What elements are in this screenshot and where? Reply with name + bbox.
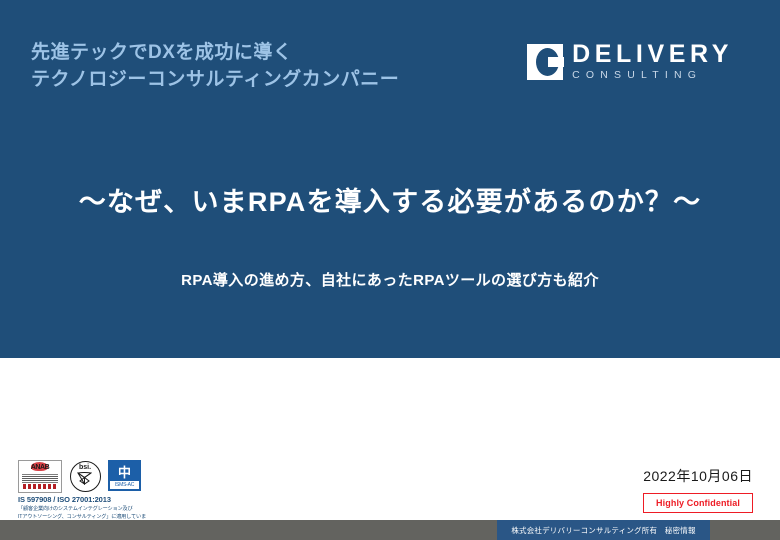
page-title: ～なぜ、いまRPAを導入する必要があるのか？～ — [0, 185, 780, 220]
brand-logo-secondary-text: CONSULTING — [572, 69, 733, 83]
page-subtitle: RPA導入の進め方、自社にあったRPAツールの選び方も紹介 — [0, 269, 780, 290]
brand-logo-primary-text: DELIVERY — [572, 41, 733, 67]
bsi-kitemark-icon: bsi. — [66, 460, 104, 491]
company-tagline: 先進テックでDXを成功に導く テクノロジーコンサルティングカンパニー — [31, 40, 399, 94]
anab-accreditation-icon: ANAB — [18, 460, 62, 493]
certification-marks: ANAB bsi. 中 ISMS-AC — [18, 460, 146, 493]
slide-date: 2022年10月06日 — [643, 466, 753, 486]
footer-bar: 株式会社デリバリーコンサルティング所有 秘密情報 — [0, 520, 780, 540]
bsi-wordmark: bsi. — [66, 464, 104, 471]
anab-rule-bottom — [22, 482, 58, 483]
anab-rule-top — [22, 474, 58, 475]
anab-bars — [23, 484, 57, 489]
brand-logo: DELIVERY CONSULTING — [527, 41, 733, 83]
hero-panel: 先進テックでDXを成功に導く テクノロジーコンサルティングカンパニー DELIV… — [0, 0, 780, 358]
brand-logo-wordmark: DELIVERY CONSULTING — [572, 41, 733, 83]
iso-certificate-number: IS 597908 / ISO 27001:2013 — [18, 495, 146, 504]
delivery-c-mark-icon — [527, 44, 563, 80]
title-block: ～なぜ、いまRPAを導入する必要があるのか？～ — [0, 185, 780, 220]
status-badge: Highly Confidential — [643, 493, 753, 513]
kitemark-shape — [77, 471, 92, 485]
jis-isms-icon: 中 ISMS-AC — [108, 460, 141, 491]
jis-band-label: ISMS-AC — [110, 481, 139, 489]
anab-wordmark: ANAB — [19, 464, 61, 471]
title-slide: 先進テックでDXを成功に導く テクノロジーコンサルティングカンパニー DELIV… — [0, 0, 780, 540]
certification-block: ANAB bsi. 中 ISMS-AC IS 597908 / I — [18, 460, 146, 529]
jis-glyph-shape: 中 — [108, 462, 141, 481]
anab-microtext — [22, 476, 58, 481]
footer-ownership-note: 株式会社デリバリーコンサルティング所有 秘密情報 — [497, 520, 710, 540]
